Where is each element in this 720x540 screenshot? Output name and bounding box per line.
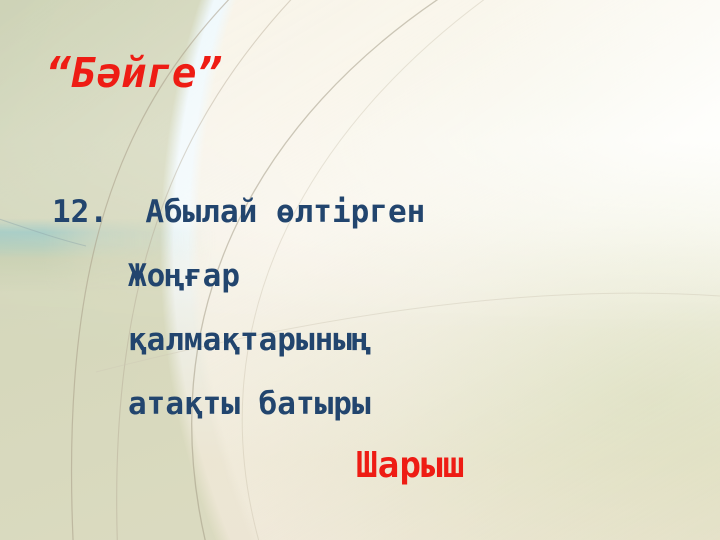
slide-title: “Бәйге” bbox=[46, 52, 222, 95]
question-line-3: қалмақтарының bbox=[0, 308, 720, 372]
slide-canvas: “Бәйге” 12. Абылай өлтірген Жоңғар қалма… bbox=[0, 0, 720, 540]
question-line-1: 12. Абылай өлтірген bbox=[0, 180, 720, 244]
question-line-2: Жоңғар bbox=[0, 244, 720, 308]
question-line-4: атақты батыры bbox=[0, 372, 720, 436]
answer-text: Шарыш bbox=[0, 436, 720, 496]
question-block: 12. Абылай өлтірген Жоңғар қалмақтарының… bbox=[0, 180, 720, 496]
slide-content: “Бәйге” 12. Абылай өлтірген Жоңғар қалма… bbox=[0, 0, 720, 540]
